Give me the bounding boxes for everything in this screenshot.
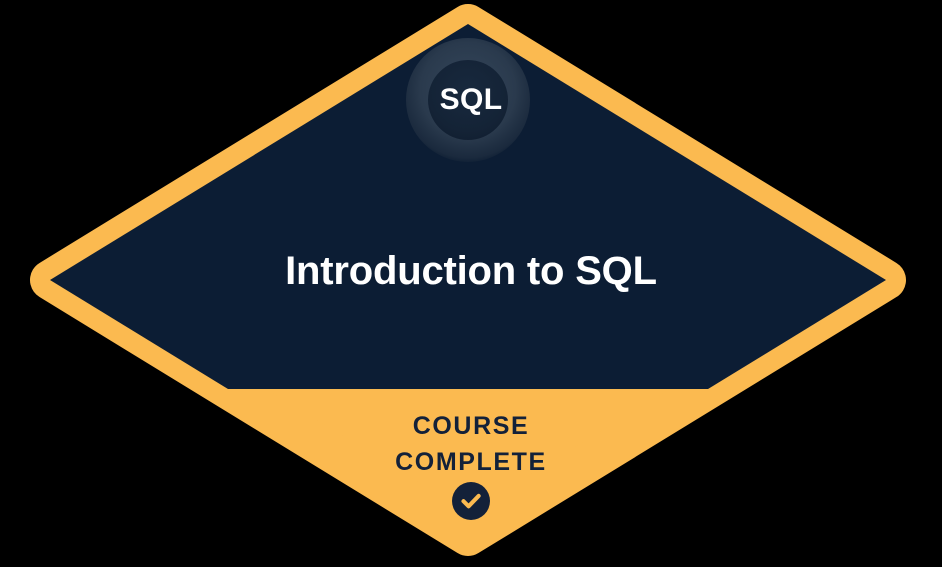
sql-emblem-circle <box>406 38 530 162</box>
badge-diamond-graphic <box>0 0 942 567</box>
course-badge[interactable]: SQL Introduction to SQL COURSE COMPLETE <box>0 0 942 567</box>
emblem-inner-disc <box>428 60 508 140</box>
